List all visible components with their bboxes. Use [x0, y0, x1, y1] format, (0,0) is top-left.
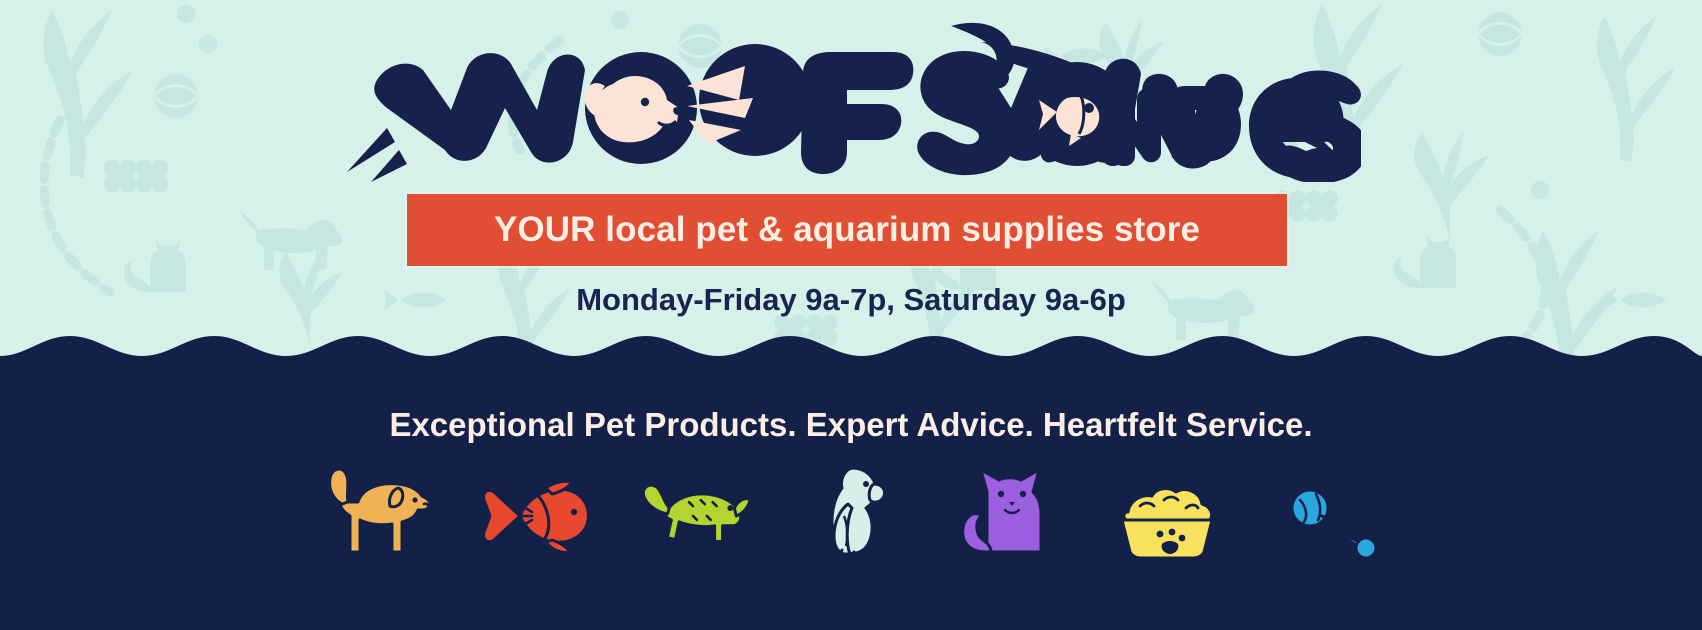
wave-divider [0, 330, 1702, 380]
logo-burst-left [347, 128, 407, 182]
ribbon-text: YOUR local pet & aquarium supplies store [494, 210, 1200, 250]
rope-toy-icon[interactable] [1264, 458, 1386, 560]
store-banner: Woofs and Waves [0, 0, 1702, 630]
tagline-ribbon: YOUR local pet & aquarium supplies store [407, 194, 1287, 266]
pet-category-icons [0, 450, 1702, 560]
dog-icon[interactable] [316, 458, 438, 560]
food-bowl-icon[interactable] [1106, 458, 1228, 560]
cat-icon[interactable] [948, 458, 1070, 560]
bird-icon[interactable] [790, 458, 912, 560]
aquarium-hero-section: Woofs and Waves [0, 0, 1702, 380]
services-section: Exceptional Pet Products. Expert Advice.… [0, 378, 1702, 630]
logo-wordmark[interactable]: Woofs and Waves [0, 22, 1702, 182]
fish-icon[interactable] [474, 458, 596, 560]
services-tagline: Exceptional Pet Products. Expert Advice.… [0, 406, 1702, 444]
store-hours: Monday-Friday 9a-7p, Saturday 9a-6p [0, 282, 1702, 318]
lizard-icon[interactable] [632, 458, 754, 560]
logo-word-woofs [374, 44, 1016, 175]
